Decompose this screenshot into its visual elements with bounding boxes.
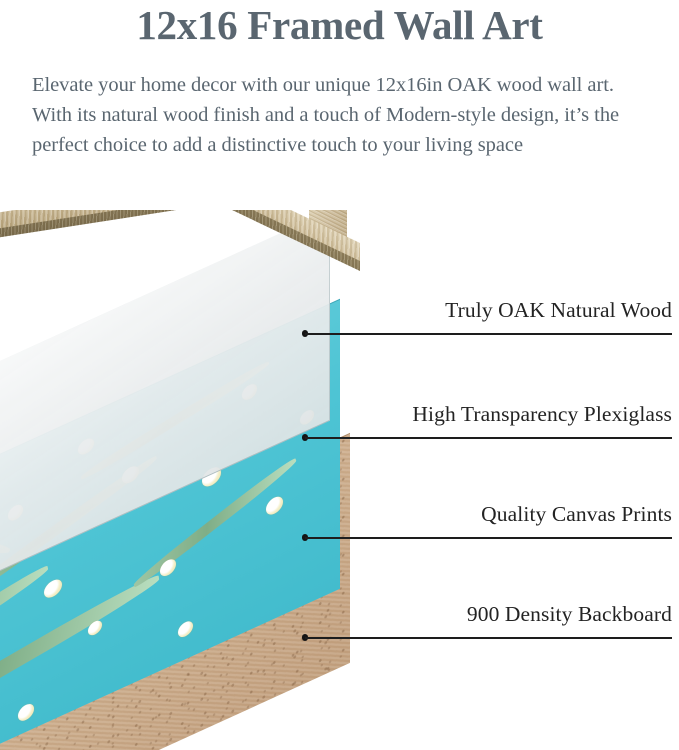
callout-leader-line (305, 437, 672, 439)
callout-label-plexiglass: High Transparency Plexiglass (412, 402, 672, 427)
callout-leader-line (305, 537, 672, 539)
callout-label-canvas-prints: Quality Canvas Prints (481, 502, 672, 527)
callout-group: Truly OAK Natural Wood High Transparency… (0, 0, 679, 750)
callout-label-oak-wood: Truly OAK Natural Wood (445, 298, 672, 323)
callout-label-backboard: 900 Density Backboard (467, 602, 672, 627)
callout-leader-line (305, 333, 672, 335)
callout-leader-line (305, 637, 672, 639)
